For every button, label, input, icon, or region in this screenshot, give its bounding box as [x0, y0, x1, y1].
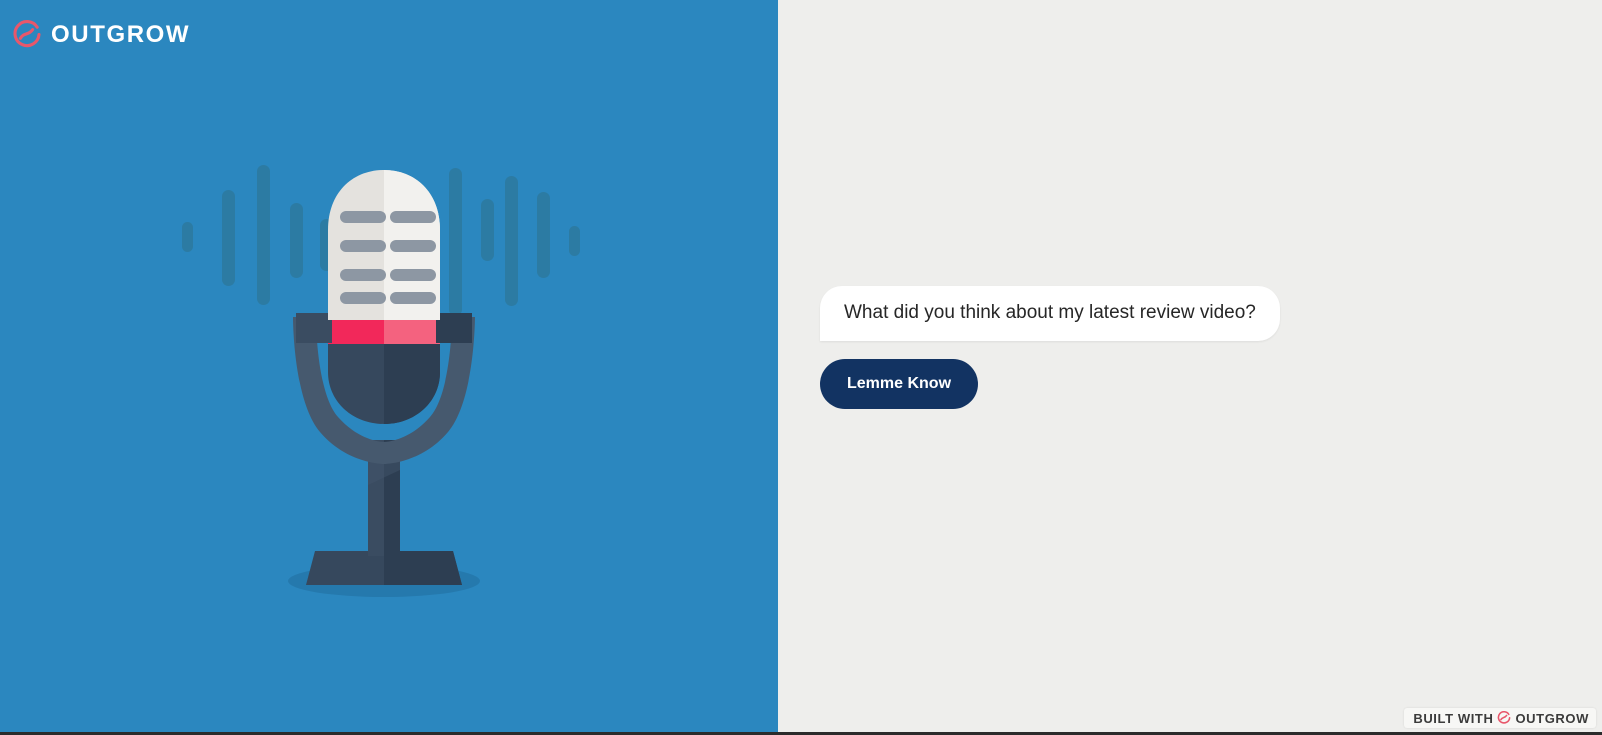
chat-message-bubble: What did you think about my latest revie…: [820, 286, 1280, 341]
chat-area: What did you think about my latest revie…: [820, 286, 1560, 409]
built-with-outgrow-badge[interactable]: BUILT WITH OUTGROW: [1404, 708, 1596, 728]
answer-button-lemme-know[interactable]: Lemme Know: [820, 359, 978, 409]
brand-name: OUTGROW: [51, 23, 190, 47]
waveform-bars-right: [449, 168, 580, 316]
right-chat-panel: What did you think about my latest revie…: [778, 0, 1602, 735]
outgrow-logo-icon: [12, 20, 42, 50]
built-with-label: BUILT WITH: [1413, 712, 1493, 725]
answer-options: Lemme Know: [820, 359, 1560, 409]
waveform-bars-left: [182, 165, 333, 305]
mic-stand-base: [306, 551, 462, 585]
chatbot-page: OUTGROW What did you think about my late…: [0, 0, 1602, 735]
brand-lockup: OUTGROW: [12, 19, 190, 51]
left-visual-panel: OUTGROW: [0, 0, 778, 735]
mic-accent-band: [328, 318, 440, 344]
microphone-illustration: [0, 0, 778, 735]
outgrow-logo-icon: [1497, 711, 1511, 725]
built-with-brand-name: OUTGROW: [1515, 712, 1589, 725]
